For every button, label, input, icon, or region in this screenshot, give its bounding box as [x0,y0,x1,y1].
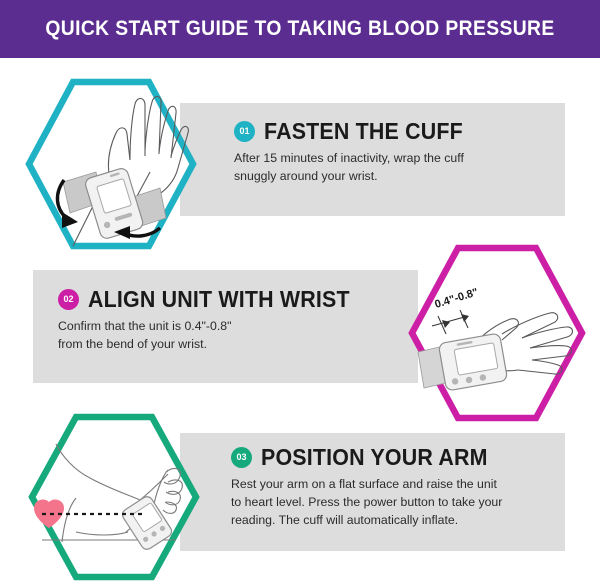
step-1-body-line-1: After 15 minutes of inactivity, wrap the… [234,150,554,168]
step-2-title: ALIGN UNIT WITH WRIST [88,288,350,311]
step-2-heading-row: 02 ALIGN UNIT WITH WRIST [58,288,388,311]
step-3-illustration [18,412,210,587]
page-title: QUICK START GUIDE TO TAKING BLOOD PRESSU… [24,0,576,58]
step-2-body-line-1: Confirm that the unit is 0.4"-0.8" [58,318,388,336]
step-1: 01 FASTEN THE CUFF After 15 minutes of i… [0,58,600,258]
step-3-title: POSITION YOUR ARM [261,446,488,469]
step-3-body: Rest your arm on a flat surface and rais… [231,476,556,529]
step-2-text: 02 ALIGN UNIT WITH WRIST Confirm that th… [58,288,388,354]
step-1-title: FASTEN THE CUFF [264,120,463,143]
step-1-number-badge: 01 [234,121,255,142]
hand-with-wrist-cuff-rotating-arrows-icon [18,76,204,252]
infographic-root: QUICK START GUIDE TO TAKING BLOOD PRESSU… [0,0,600,577]
step-3-text: 03 POSITION YOUR ARM Rest your arm on a … [231,446,556,529]
step-1-heading-row: 01 FASTEN THE CUFF [234,120,554,143]
step-3-number-badge: 03 [231,447,252,468]
step-2-illustration: 0.4"-0.8" [398,242,594,429]
step-1-body-line-2: snuggly around your wrist. [234,168,554,186]
step-2-body: Confirm that the unit is 0.4"-0.8" from … [58,318,388,354]
step-1-body: After 15 minutes of inactivity, wrap the… [234,150,554,186]
wrist-monitor-measurement-gap-icon: 0.4"-0.8" [398,242,594,424]
arm-raised-to-heart-level-icon [18,412,210,582]
step-3-body-line-3: reading. The cuff will automatically inf… [231,512,556,530]
step-2-body-line-2: from the bend of your wrist. [58,336,388,354]
step-1-text: 01 FASTEN THE CUFF After 15 minutes of i… [234,120,554,186]
step-1-illustration [18,76,204,257]
step-2: 0.4"-0.8" 02 ALIGN UNIT WITH WRIST Confi… [0,240,600,425]
step-2-number-badge: 02 [58,289,79,310]
step-3-body-line-2: to heart level. Press the power button t… [231,494,556,512]
step-3: 03 POSITION YOUR ARM Rest your arm on a … [0,412,600,577]
step-3-body-line-1: Rest your arm on a flat surface and rais… [231,476,556,494]
header-bar: QUICK START GUIDE TO TAKING BLOOD PRESSU… [0,0,600,58]
step-3-heading-row: 03 POSITION YOUR ARM [231,446,556,469]
